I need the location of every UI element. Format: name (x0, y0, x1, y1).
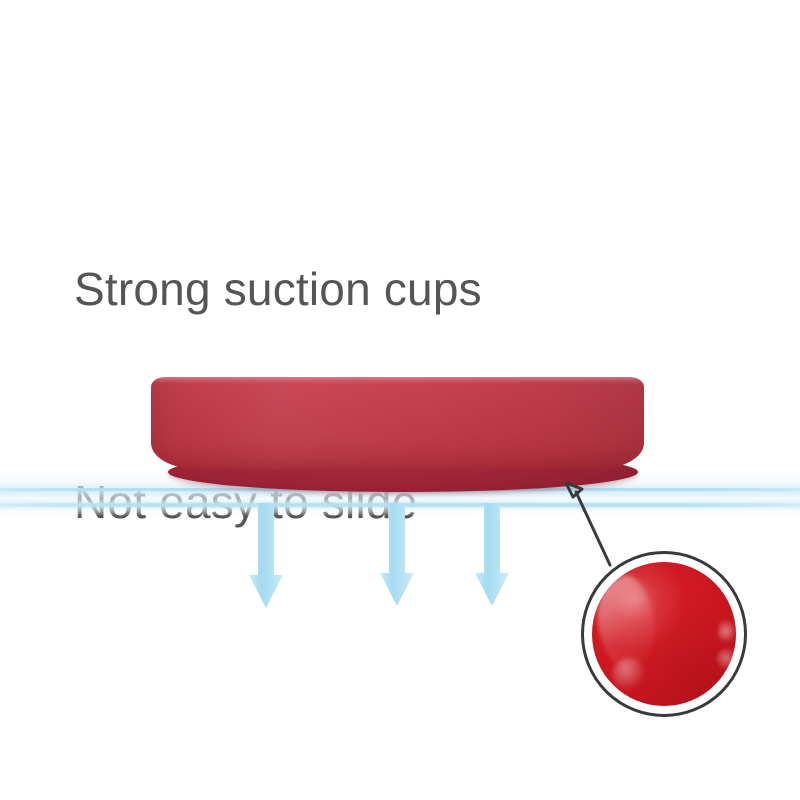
closeup-highlight-right (718, 616, 734, 646)
closeup-highlight-lower-left (612, 658, 646, 692)
suction-cup-closeup (592, 562, 736, 706)
product-feature-illustration: Strong suction cups Not easy to slide (0, 0, 800, 800)
closeup-highlight-right-lower (716, 648, 736, 670)
